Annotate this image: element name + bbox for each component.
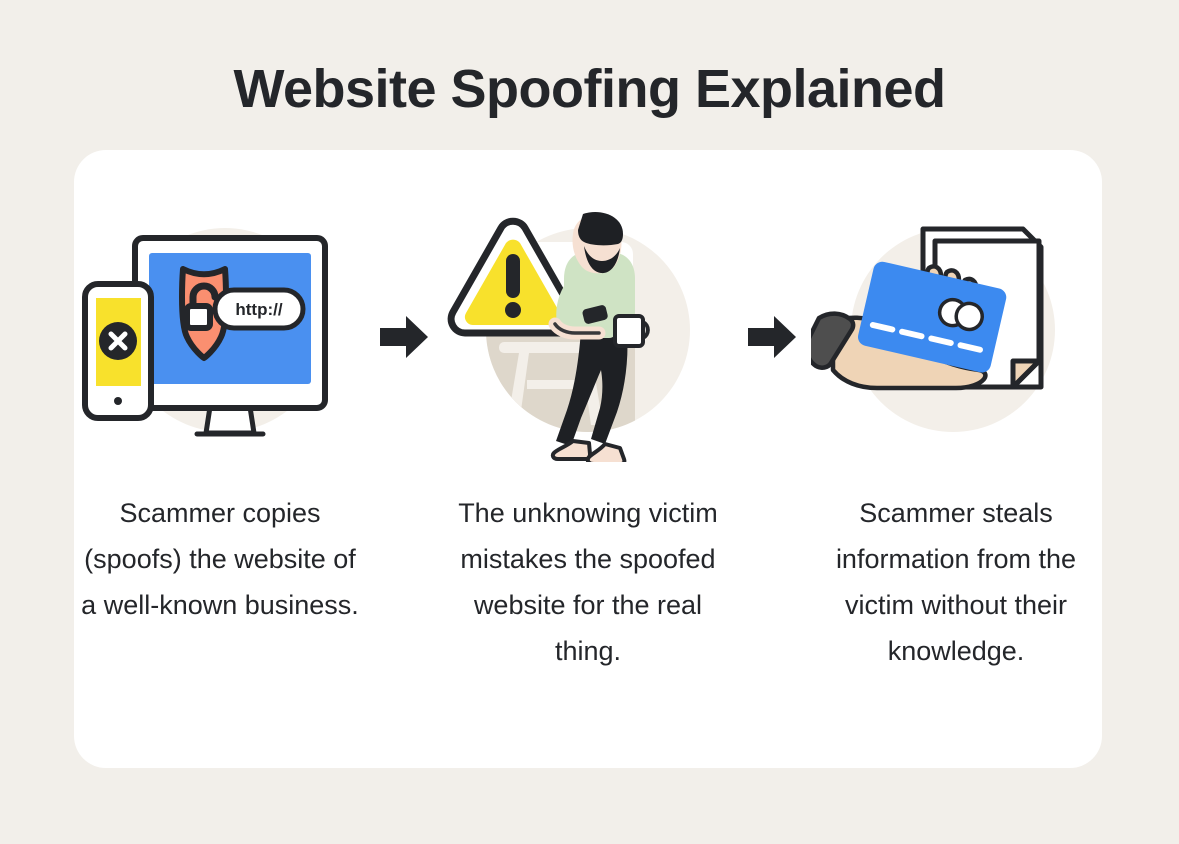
illustration-monitor-phone-spoofed-site: http:// bbox=[75, 212, 365, 462]
url-bar: http:// bbox=[215, 290, 303, 328]
step-1-caption: Scammer copies (spoofs) the website of a… bbox=[75, 490, 365, 628]
steps-row: http:// Scammer copies (spoofs) the webs… bbox=[74, 212, 1102, 674]
arrow-step-2-to-3 bbox=[734, 212, 810, 462]
step-3: Scammer steals information from the vict… bbox=[810, 212, 1102, 674]
step-2-caption: The unknowing victim mistakes the spoofe… bbox=[443, 490, 733, 674]
illustration-warning-triangle-person-phone bbox=[443, 212, 733, 462]
monitor-icon bbox=[135, 238, 325, 434]
illustration-hand-credit-card-documents bbox=[811, 212, 1101, 462]
step-2: The unknowing victim mistakes the spoofe… bbox=[442, 212, 734, 674]
content-card: http:// Scammer copies (spoofs) the webs… bbox=[74, 150, 1102, 768]
step-1: http:// Scammer copies (spoofs) the webs… bbox=[74, 212, 366, 628]
step-3-caption: Scammer steals information from the vict… bbox=[811, 490, 1101, 674]
infographic-page: Website Spoofing Explained bbox=[0, 0, 1179, 844]
right-arrow-icon bbox=[380, 316, 428, 358]
arrow-step-1-to-2 bbox=[366, 212, 442, 462]
coffee-mug-icon bbox=[615, 316, 648, 346]
right-arrow-icon bbox=[748, 316, 796, 358]
smartphone-blocked-icon bbox=[85, 284, 151, 418]
page-title: Website Spoofing Explained bbox=[0, 58, 1179, 120]
url-bar-text: http:// bbox=[235, 300, 282, 319]
